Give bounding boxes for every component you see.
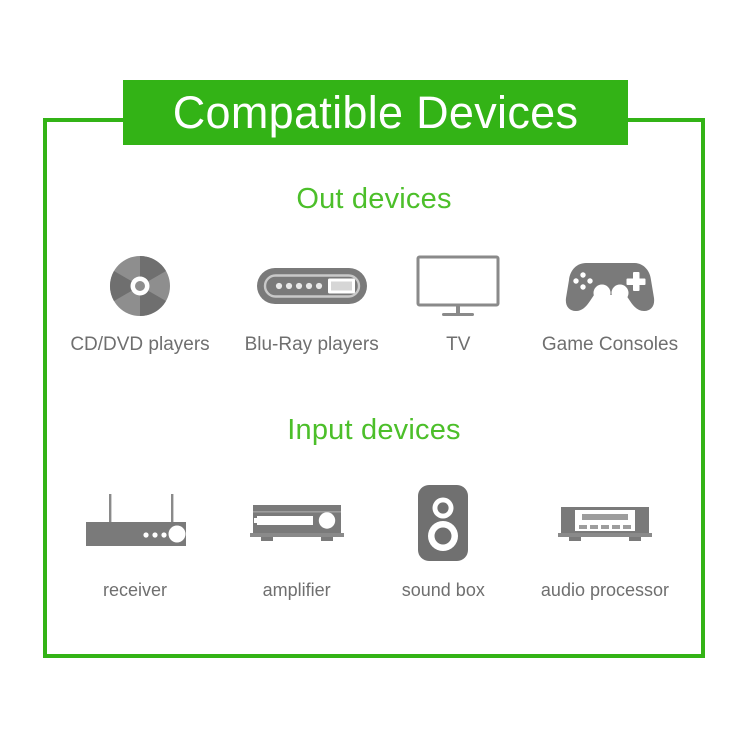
device-label: sound box <box>402 580 485 601</box>
device-label: CD/DVD players <box>70 334 209 356</box>
gamepad-icon <box>564 258 656 314</box>
speaker-icon <box>417 484 469 562</box>
device-item-sound-box: sound box <box>383 478 503 601</box>
out-devices-row: CD/DVD players Blu-Ray players <box>60 248 690 356</box>
icon-container <box>416 248 500 324</box>
device-item-bluray-players: Blu-Ray players <box>237 248 387 356</box>
device-item-audio-processor: audio processor <box>520 478 690 601</box>
input-devices-row: receiver amplifier <box>60 478 690 601</box>
section-heading-input-devices: Input devices <box>43 414 705 447</box>
page-title: Compatible Devices <box>173 90 579 135</box>
device-item-cd-dvd-players: CD/DVD players <box>60 248 220 356</box>
device-item-tv: TV <box>403 248 513 356</box>
amplifier-icon <box>247 501 347 545</box>
icon-container <box>256 248 368 324</box>
av-receiver-icon <box>80 490 190 556</box>
icon-container <box>247 478 347 568</box>
device-item-amplifier: amplifier <box>227 478 367 601</box>
audio-processor-icon <box>555 501 655 545</box>
device-label: audio processor <box>541 580 669 601</box>
icon-container <box>80 478 190 568</box>
device-item-game-consoles: Game Consoles <box>530 248 690 356</box>
device-label: Game Consoles <box>542 334 678 356</box>
compatible-devices-infographic: Compatible Devices Out devices CD/DVD pl… <box>0 0 750 750</box>
icon-container <box>417 478 469 568</box>
title-banner: Compatible Devices <box>123 80 628 145</box>
device-label: TV <box>446 334 470 356</box>
device-label: receiver <box>103 580 167 601</box>
icon-container <box>109 248 171 324</box>
icon-container <box>564 248 656 324</box>
device-item-receiver: receiver <box>60 478 210 601</box>
bluray-player-icon <box>256 267 368 305</box>
icon-container <box>555 478 655 568</box>
compact-disc-icon <box>109 255 171 317</box>
television-icon <box>416 255 500 317</box>
section-heading-out-devices: Out devices <box>43 183 705 216</box>
device-label: Blu-Ray players <box>245 334 379 356</box>
device-label: amplifier <box>263 580 331 601</box>
